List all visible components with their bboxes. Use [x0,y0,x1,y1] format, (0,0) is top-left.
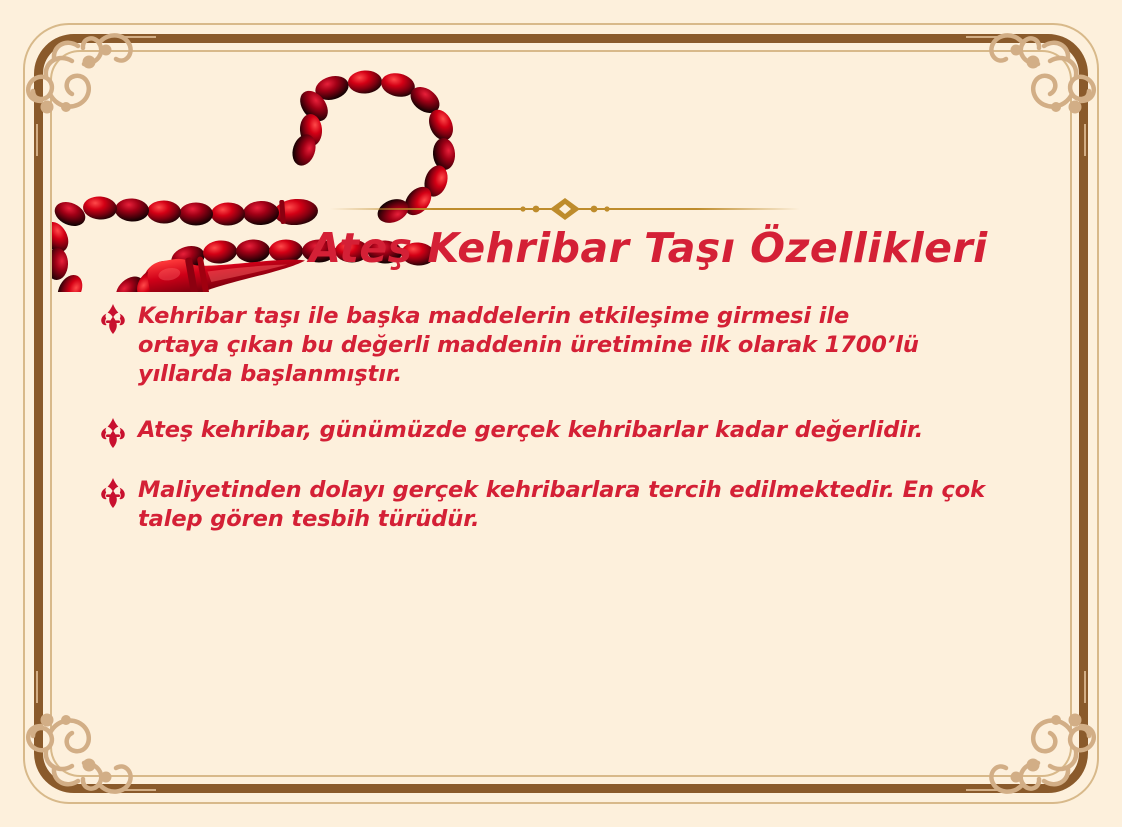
list-item-text: Maliyetinden dolayı gerçek kehribarlara … [138,476,1043,534]
page-title: Ateş Kehribar Taşı Özellikleri [0,224,1122,272]
diamond-divider-ornament [330,196,800,222]
fleur-de-lis-bullet-icon [100,478,126,508]
corner-flourish-ornament-bottom-right [966,671,1116,821]
corner-flourish-ornament-top-right [966,6,1116,156]
information-card: Ateş Kehribar Taşı Özellikleri Kehribar … [0,0,1122,827]
list-item: Ateş kehribar, günümüzde gerçek kehribar… [100,416,1045,448]
corner-flourish-ornament-top-left [6,6,156,156]
fleur-de-lis-bullet-icon [100,418,126,448]
list-item-text: Kehribar taşı ile başka maddelerin etkil… [138,302,928,388]
features-list: Kehribar taşı ile başka maddelerin etkil… [100,302,1045,534]
fleur-de-lis-bullet-icon [100,304,126,334]
list-item-text: Ateş kehribar, günümüzde gerçek kehribar… [138,416,1038,445]
list-item: Kehribar taşı ile başka maddelerin etkil… [100,302,1045,388]
corner-flourish-ornament-bottom-left [6,671,156,821]
list-item: Maliyetinden dolayı gerçek kehribarlara … [100,476,1045,534]
